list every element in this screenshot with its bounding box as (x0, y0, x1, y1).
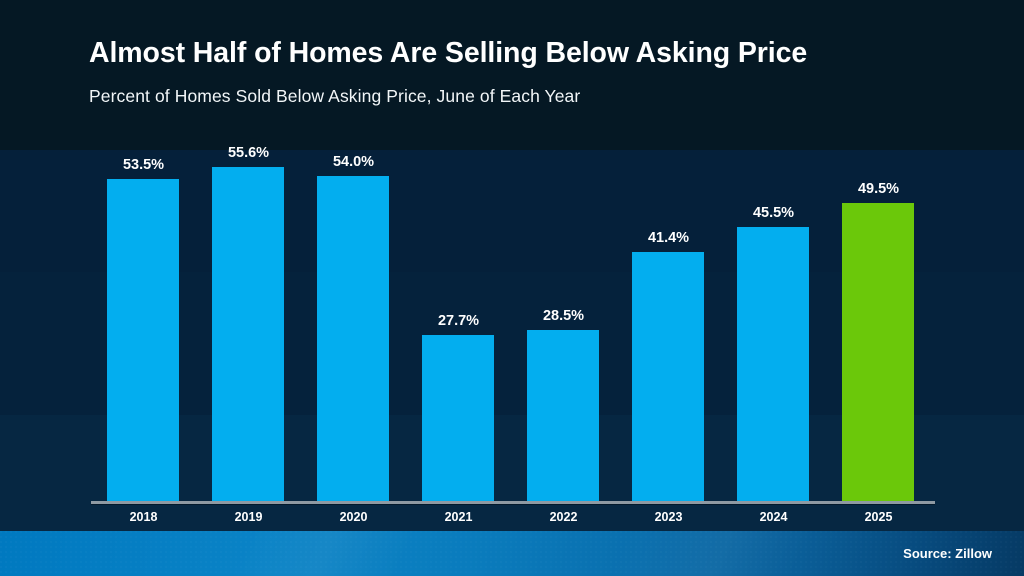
bar-group-2020: 54.0% (301, 140, 406, 502)
bar-group-2023: 41.4% (616, 140, 721, 502)
bar-value-label-2023: 41.4% (616, 230, 721, 246)
footer-texture (0, 531, 1024, 576)
x-tick-2022: 2022 (511, 510, 616, 524)
x-tick-2024: 2024 (721, 510, 826, 524)
bar-group-2018: 53.5% (91, 140, 196, 502)
bar-group-2022: 28.5% (511, 140, 616, 502)
bar-group-2024: 45.5% (721, 140, 826, 502)
x-axis-tick-labels: 20182019202020212022202320242025 (91, 510, 935, 532)
bar-2020[interactable] (317, 176, 389, 502)
chart-title: Almost Half of Homes Are Selling Below A… (89, 37, 807, 70)
footer-band (0, 531, 1024, 576)
bar-value-label-2025: 49.5% (826, 181, 931, 197)
x-tick-2019: 2019 (196, 510, 301, 524)
background-band-1 (0, 0, 1024, 150)
bar-2021[interactable] (422, 335, 494, 502)
bar-value-label-2020: 54.0% (301, 154, 406, 170)
x-axis-line-shadow (91, 504, 935, 505)
x-tick-2018: 2018 (91, 510, 196, 524)
bar-2024[interactable] (737, 227, 809, 502)
bar-2022[interactable] (527, 330, 599, 502)
x-tick-2025: 2025 (826, 510, 931, 524)
x-tick-2021: 2021 (406, 510, 511, 524)
plot-area: 53.5%55.6%54.0%27.7%28.5%41.4%45.5%49.5% (91, 140, 935, 502)
bar-value-label-2019: 55.6% (196, 145, 301, 161)
bar-value-label-2024: 45.5% (721, 205, 826, 221)
bar-group-2021: 27.7% (406, 140, 511, 502)
bar-group-2025: 49.5% (826, 140, 931, 502)
bar-group-2019: 55.6% (196, 140, 301, 502)
bar-2019[interactable] (212, 167, 284, 502)
chart-canvas: Almost Half of Homes Are Selling Below A… (0, 0, 1024, 576)
bar-2023[interactable] (632, 252, 704, 502)
bar-value-label-2021: 27.7% (406, 313, 511, 329)
bar-value-label-2022: 28.5% (511, 308, 616, 324)
chart-subtitle: Percent of Homes Sold Below Asking Price… (89, 86, 580, 107)
source-note: Source: Zillow (903, 546, 992, 561)
bar-2025[interactable] (842, 203, 914, 502)
bar-2018[interactable] (107, 179, 179, 502)
x-tick-2023: 2023 (616, 510, 721, 524)
x-tick-2020: 2020 (301, 510, 406, 524)
bar-value-label-2018: 53.5% (91, 157, 196, 173)
